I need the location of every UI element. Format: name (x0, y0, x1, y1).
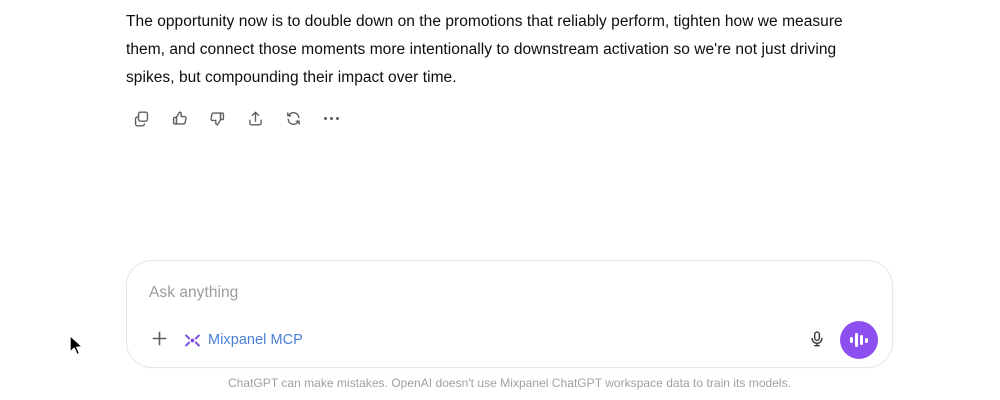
microphone-icon (808, 330, 826, 351)
composer-placeholder[interactable]: Ask anything (149, 284, 238, 302)
regenerate-icon (285, 110, 302, 127)
message-action-bar (126, 105, 346, 131)
assistant-message-text: The opportunity now is to double down on… (126, 8, 886, 92)
message-composer[interactable]: Ask anything (126, 260, 893, 368)
thumbs-down-button[interactable] (202, 105, 232, 131)
share-icon (247, 110, 264, 127)
mixpanel-mcp-chip[interactable]: Mixpanel MCP (179, 329, 308, 352)
regenerate-button[interactable] (278, 105, 308, 131)
more-options-icon (324, 117, 339, 120)
assistant-message: The opportunity now is to double down on… (126, 8, 886, 92)
dictate-button[interactable] (802, 325, 832, 355)
chat-page: The opportunity now is to double down on… (0, 0, 1000, 400)
voice-waveform-icon (850, 331, 868, 349)
plus-icon (150, 329, 169, 351)
thumbs-down-icon (209, 110, 226, 127)
thumbs-up-icon (171, 110, 188, 127)
composer-toolbar: Mixpanel MCP (127, 313, 892, 367)
mixpanel-logo-icon (184, 332, 201, 349)
mixpanel-mcp-label: Mixpanel MCP (208, 332, 303, 348)
footer-disclaimer: ChatGPT can make mistakes. OpenAI doesn'… (126, 376, 893, 390)
copy-button[interactable] (126, 105, 156, 131)
copy-icon (133, 110, 150, 127)
share-button[interactable] (240, 105, 270, 131)
voice-mode-button[interactable] (840, 321, 878, 359)
thumbs-up-button[interactable] (164, 105, 194, 131)
mouse-cursor (68, 334, 86, 358)
add-attachment-button[interactable] (145, 326, 173, 354)
more-options-button[interactable] (316, 105, 346, 131)
